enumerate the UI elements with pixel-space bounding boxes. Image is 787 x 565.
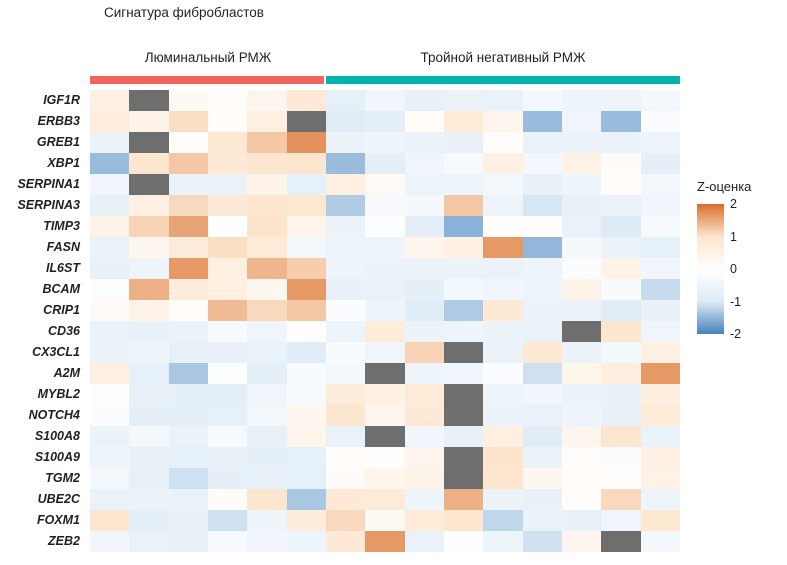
gene-label: CD36 <box>0 321 82 342</box>
heatmap-cell <box>247 468 286 489</box>
heatmap-cell <box>562 531 601 552</box>
gene-label: BCAM <box>0 279 82 300</box>
heatmap-cell <box>129 531 168 552</box>
heatmap-cell <box>247 489 286 510</box>
heatmap-cell <box>483 153 522 174</box>
heatmap-cell <box>90 195 129 216</box>
heatmap-cell <box>483 195 522 216</box>
heatmap-cell <box>365 489 404 510</box>
heatmap-cell <box>523 279 562 300</box>
gene-label: FOXM1 <box>0 510 82 531</box>
heatmap-cell <box>247 510 286 531</box>
heatmap-cell <box>90 405 129 426</box>
heatmap-cell <box>405 342 444 363</box>
heatmap-cell <box>208 216 247 237</box>
heatmap-cell <box>483 468 522 489</box>
heatmap-cell <box>562 321 601 342</box>
heatmap-cell <box>601 468 640 489</box>
heatmap-cell <box>247 153 286 174</box>
gene-label: FASN <box>0 237 82 258</box>
heatmap-cell <box>483 489 522 510</box>
heatmap-cell <box>247 363 286 384</box>
heatmap-cell <box>405 447 444 468</box>
heatmap-cell <box>129 132 168 153</box>
heatmap-cell <box>287 363 326 384</box>
legend-colorbar <box>697 204 724 334</box>
heatmap-cell <box>641 279 680 300</box>
heatmap-cell <box>483 90 522 111</box>
heatmap-cell <box>523 300 562 321</box>
heatmap-cell <box>483 405 522 426</box>
heatmap-cell <box>562 258 601 279</box>
gene-label: SERPINA3 <box>0 195 82 216</box>
heatmap-cell <box>562 468 601 489</box>
heatmap-cell <box>90 90 129 111</box>
heatmap-cell <box>287 153 326 174</box>
legend-tick-labels: 210-1-2 <box>730 204 770 334</box>
heatmap-cell <box>641 90 680 111</box>
heatmap-cell <box>444 342 483 363</box>
heatmap-cell <box>405 468 444 489</box>
heatmap-cell <box>129 342 168 363</box>
heatmap-cell <box>208 447 247 468</box>
heatmap-cell <box>287 342 326 363</box>
heatmap-cell <box>326 384 365 405</box>
heatmap-cell <box>247 321 286 342</box>
legend-tick: 1 <box>730 231 737 243</box>
heatmap-cell <box>562 111 601 132</box>
heatmap-cell <box>601 153 640 174</box>
heatmap-cell <box>523 342 562 363</box>
heatmap-cell <box>208 111 247 132</box>
heatmap-cell <box>405 90 444 111</box>
heatmap-cell <box>326 510 365 531</box>
heatmap-cell <box>90 321 129 342</box>
heatmap-cell <box>208 321 247 342</box>
heatmap-cell <box>523 195 562 216</box>
heatmap-cell <box>365 300 404 321</box>
heatmap-cell <box>208 153 247 174</box>
heatmap-cell <box>287 468 326 489</box>
heatmap-cell <box>444 111 483 132</box>
heatmap-cell <box>287 174 326 195</box>
heatmap-cell <box>90 111 129 132</box>
heatmap-cell <box>444 468 483 489</box>
heatmap-cell <box>169 468 208 489</box>
heatmap-cell <box>287 132 326 153</box>
heatmap-cell <box>562 426 601 447</box>
heatmap-cell <box>483 447 522 468</box>
group-label-tnbc: Тройной негативный РМЖ <box>326 48 680 68</box>
heatmap-cell <box>483 174 522 195</box>
heatmap-cell <box>444 153 483 174</box>
heatmap-cell <box>641 342 680 363</box>
heatmap-cell <box>483 510 522 531</box>
heatmap-cell <box>287 531 326 552</box>
heatmap-cell <box>562 279 601 300</box>
heatmap-cell <box>444 363 483 384</box>
heatmap-cell <box>405 405 444 426</box>
heatmap-cell <box>601 111 640 132</box>
heatmap-cell <box>129 258 168 279</box>
heatmap-cell <box>641 195 680 216</box>
heatmap-cell <box>601 216 640 237</box>
heatmap-cell <box>287 321 326 342</box>
heatmap-cell <box>641 132 680 153</box>
heatmap-cell <box>90 237 129 258</box>
heatmap-cell <box>601 405 640 426</box>
heatmap-cell <box>169 405 208 426</box>
heatmap-cell <box>365 132 404 153</box>
heatmap-cell <box>169 258 208 279</box>
heatmap-cell <box>483 426 522 447</box>
heatmap-cell <box>523 258 562 279</box>
heatmap-cell <box>129 510 168 531</box>
heatmap-cell <box>601 90 640 111</box>
heatmap-cell <box>601 174 640 195</box>
heatmap-cell <box>90 384 129 405</box>
heatmap-cell <box>365 111 404 132</box>
heatmap-cell <box>169 489 208 510</box>
gene-label: CX3CL1 <box>0 342 82 363</box>
heatmap-cell <box>247 384 286 405</box>
heatmap-cell <box>129 426 168 447</box>
heatmap-cell <box>641 510 680 531</box>
heatmap-cell <box>523 132 562 153</box>
heatmap-cell <box>208 195 247 216</box>
heatmap-cell <box>641 321 680 342</box>
heatmap-cell <box>208 384 247 405</box>
heatmap-cell <box>169 195 208 216</box>
heatmap-cell <box>90 468 129 489</box>
heatmap-cell <box>641 300 680 321</box>
heatmap-cell <box>129 405 168 426</box>
heatmap-cell <box>129 195 168 216</box>
heatmap-cell <box>444 216 483 237</box>
heatmap-cell <box>90 132 129 153</box>
heatmap-cell <box>641 237 680 258</box>
heatmap-cell <box>287 384 326 405</box>
heatmap-cell <box>208 531 247 552</box>
heatmap-cell <box>523 237 562 258</box>
heatmap-cell <box>405 153 444 174</box>
gene-label: TGM2 <box>0 468 82 489</box>
heatmap-cell <box>483 216 522 237</box>
heatmap-cell <box>129 216 168 237</box>
heatmap-cell <box>601 510 640 531</box>
heatmap-cell <box>405 132 444 153</box>
heatmap-cell <box>208 489 247 510</box>
heatmap-cell <box>405 300 444 321</box>
heatmap-cell <box>365 195 404 216</box>
heatmap-cell <box>641 111 680 132</box>
heatmap-cell <box>562 132 601 153</box>
heatmap-cell <box>641 489 680 510</box>
heatmap-cell <box>129 321 168 342</box>
heatmap-cell <box>483 300 522 321</box>
heatmap-cell <box>523 489 562 510</box>
heatmap-cell <box>601 426 640 447</box>
heatmap-cell <box>287 195 326 216</box>
heatmap-cell <box>444 531 483 552</box>
heatmap-cell <box>405 510 444 531</box>
heatmap-cell <box>562 195 601 216</box>
heatmap-cell <box>287 489 326 510</box>
group-color-bar-tnbc <box>326 76 680 84</box>
heatmap-cell <box>601 237 640 258</box>
heatmap-cell <box>208 258 247 279</box>
heatmap-cell <box>483 531 522 552</box>
heatmap-cell <box>247 405 286 426</box>
heatmap-cell <box>405 384 444 405</box>
heatmap-cell <box>601 258 640 279</box>
heatmap-cell <box>365 447 404 468</box>
heatmap-cell <box>562 300 601 321</box>
heatmap-cell <box>326 237 365 258</box>
heatmap-cell <box>365 321 404 342</box>
heatmap-cell <box>365 363 404 384</box>
heatmap-cell <box>208 363 247 384</box>
heatmap-cell <box>287 426 326 447</box>
heatmap-cell <box>326 363 365 384</box>
heatmap-cell <box>562 174 601 195</box>
heatmap-cell <box>169 447 208 468</box>
heatmap-cell <box>365 426 404 447</box>
legend: Z-оценка 210-1-2 <box>690 178 785 334</box>
heatmap-cell <box>365 405 404 426</box>
heatmap-cell <box>208 132 247 153</box>
heatmap-cell <box>444 384 483 405</box>
group-color-bar-luminal <box>90 76 324 84</box>
heatmap-cell <box>247 279 286 300</box>
legend-title: Z-оценка <box>697 178 785 196</box>
heatmap-cell <box>444 90 483 111</box>
gene-label: S100A8 <box>0 426 82 447</box>
heatmap-cell <box>326 111 365 132</box>
heatmap-cell <box>483 258 522 279</box>
heatmap-cell <box>562 216 601 237</box>
heatmap-cell <box>287 510 326 531</box>
heatmap-cell <box>405 237 444 258</box>
heatmap-cell <box>326 447 365 468</box>
heatmap-cell <box>365 174 404 195</box>
heatmap-cell <box>405 363 444 384</box>
heatmap-cell <box>641 216 680 237</box>
heatmap-cell <box>90 342 129 363</box>
heatmap-cell <box>365 216 404 237</box>
heatmap-cell <box>90 363 129 384</box>
heatmap-cell <box>208 426 247 447</box>
heatmap-cell <box>169 111 208 132</box>
heatmap-cell <box>90 426 129 447</box>
heatmap-cell <box>90 174 129 195</box>
heatmap-cell <box>129 384 168 405</box>
heatmap-cell <box>405 426 444 447</box>
heatmap-cell <box>444 132 483 153</box>
heatmap-cell <box>523 468 562 489</box>
heatmap-cell <box>326 531 365 552</box>
heatmap-cell <box>601 384 640 405</box>
gene-label: IL6ST <box>0 258 82 279</box>
heatmap-cell <box>523 111 562 132</box>
heatmap-cell <box>641 174 680 195</box>
heatmap-cell <box>523 90 562 111</box>
heatmap-cell <box>208 237 247 258</box>
heatmap-cell <box>129 237 168 258</box>
heatmap-cell <box>641 447 680 468</box>
group-label-luminal: Люминальный РМЖ <box>90 48 326 68</box>
heatmap-cell <box>169 384 208 405</box>
heatmap-cell <box>287 279 326 300</box>
heatmap-cell <box>601 489 640 510</box>
gene-label: CRIP1 <box>0 300 82 321</box>
heatmap-cell <box>523 510 562 531</box>
heatmap-cell <box>326 195 365 216</box>
heatmap-cell <box>326 279 365 300</box>
heatmap-cell <box>129 489 168 510</box>
heatmap-cell <box>247 300 286 321</box>
heatmap-cell <box>523 321 562 342</box>
heatmap-cell <box>523 174 562 195</box>
gene-label-column: IGF1RERBB3GREB1XBP1SERPINA1SERPINA3TIMP3… <box>0 90 82 552</box>
heatmap-cell <box>129 363 168 384</box>
heatmap-cell <box>601 279 640 300</box>
heatmap-cell <box>129 447 168 468</box>
heatmap-cell <box>444 405 483 426</box>
heatmap-cell <box>208 510 247 531</box>
heatmap-cell <box>523 426 562 447</box>
heatmap-cell <box>208 405 247 426</box>
heatmap-cell <box>444 321 483 342</box>
heatmap-cell <box>208 279 247 300</box>
heatmap-cell <box>90 510 129 531</box>
heatmap-cell <box>247 258 286 279</box>
legend-tick: -1 <box>730 296 741 308</box>
heatmap-cell <box>208 342 247 363</box>
heatmap-cell <box>247 237 286 258</box>
heatmap-cell <box>523 363 562 384</box>
heatmap-cell <box>601 300 640 321</box>
heatmap-cell <box>208 468 247 489</box>
heatmap-cell <box>601 321 640 342</box>
gene-label: ERBB3 <box>0 111 82 132</box>
heatmap-cell <box>641 531 680 552</box>
heatmap-cell <box>601 132 640 153</box>
heatmap-cell <box>562 447 601 468</box>
heatmap-cell <box>169 426 208 447</box>
heatmap-cell <box>169 300 208 321</box>
heatmap-cell <box>169 132 208 153</box>
heatmap-cell <box>483 384 522 405</box>
heatmap-cell <box>90 153 129 174</box>
heatmap-cell <box>208 90 247 111</box>
heatmap-cell <box>562 510 601 531</box>
heatmap-cell <box>169 216 208 237</box>
heatmap-cell <box>90 258 129 279</box>
heatmap-cell <box>483 363 522 384</box>
heatmap-cell <box>129 300 168 321</box>
heatmap-cell <box>90 216 129 237</box>
heatmap-cell <box>562 489 601 510</box>
heatmap-cell <box>287 405 326 426</box>
heatmap-cell <box>326 90 365 111</box>
gene-label: ZEB2 <box>0 531 82 552</box>
heatmap-cell <box>169 342 208 363</box>
heatmap-cell <box>326 489 365 510</box>
heatmap-cell <box>444 174 483 195</box>
heatmap-cell <box>169 321 208 342</box>
gene-label: IGF1R <box>0 90 82 111</box>
heatmap-cell <box>601 195 640 216</box>
heatmap-cell <box>365 342 404 363</box>
heatmap-cell <box>169 510 208 531</box>
heatmap-cell <box>247 531 286 552</box>
heatmap-cell <box>247 90 286 111</box>
heatmap-cell <box>365 510 404 531</box>
heatmap-cell <box>523 216 562 237</box>
heatmap-cell <box>562 363 601 384</box>
heatmap-cell <box>562 153 601 174</box>
heatmap-cell <box>365 153 404 174</box>
heatmap-cell <box>90 279 129 300</box>
heatmap-cell <box>169 237 208 258</box>
heatmap-cell <box>169 531 208 552</box>
gene-label: MYBL2 <box>0 384 82 405</box>
heatmap-cell <box>247 447 286 468</box>
heatmap-cell <box>562 405 601 426</box>
heatmap-cell <box>247 216 286 237</box>
heatmap-cell <box>326 468 365 489</box>
heatmap-cell <box>601 342 640 363</box>
heatmap-cell <box>169 90 208 111</box>
heatmap-cell <box>169 174 208 195</box>
heatmap-cell <box>483 111 522 132</box>
heatmap-cell <box>483 237 522 258</box>
heatmap-cell <box>483 279 522 300</box>
heatmap-cell <box>601 363 640 384</box>
heatmap-cell <box>523 531 562 552</box>
gene-label: S100A9 <box>0 447 82 468</box>
heatmap-cell <box>326 426 365 447</box>
heatmap-cell <box>444 195 483 216</box>
heatmap-cell <box>562 342 601 363</box>
gene-label: A2M <box>0 363 82 384</box>
heatmap-cell <box>208 300 247 321</box>
heatmap-cell <box>405 111 444 132</box>
heatmap-cell <box>129 279 168 300</box>
heatmap-cell <box>444 447 483 468</box>
heatmap-cell <box>326 174 365 195</box>
heatmap-cell <box>444 237 483 258</box>
heatmap-cell <box>641 426 680 447</box>
heatmap-cell <box>562 237 601 258</box>
heatmap-cell <box>365 237 404 258</box>
gene-label: TIMP3 <box>0 216 82 237</box>
gene-label: XBP1 <box>0 153 82 174</box>
heatmap-cell <box>287 447 326 468</box>
heatmap-cell <box>523 405 562 426</box>
heatmap-cell <box>523 384 562 405</box>
heatmap-cell <box>326 342 365 363</box>
heatmap-cell <box>405 489 444 510</box>
heatmap-cell <box>90 489 129 510</box>
heatmap-cell <box>641 153 680 174</box>
heatmap-cell <box>247 132 286 153</box>
heatmap-cell <box>444 489 483 510</box>
heatmap-cell <box>523 447 562 468</box>
heatmap-cell <box>444 426 483 447</box>
heatmap-cell <box>365 90 404 111</box>
